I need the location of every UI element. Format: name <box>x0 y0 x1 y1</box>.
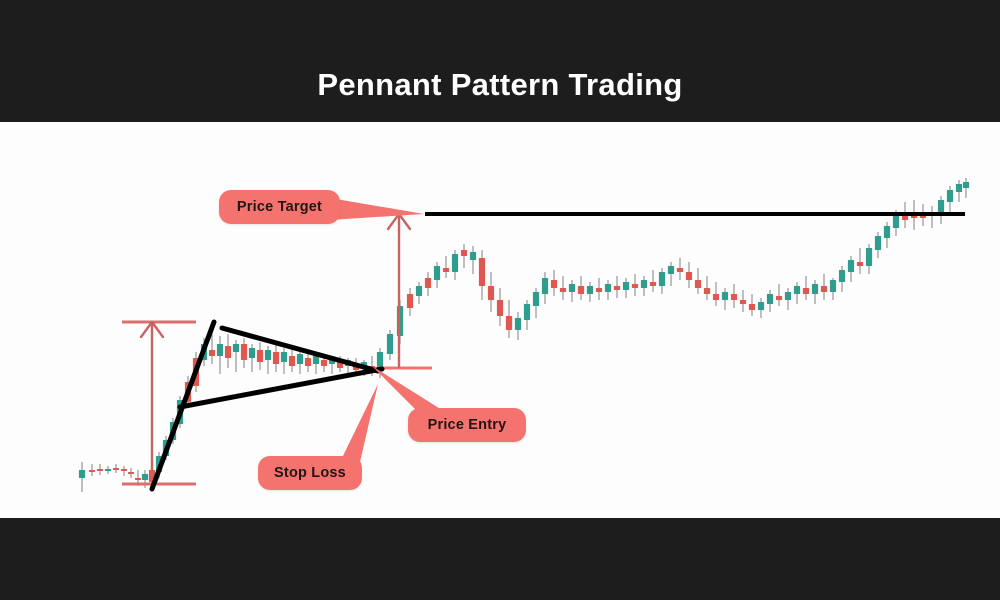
candle-body <box>866 248 872 266</box>
candle-body <box>434 266 440 280</box>
candle-body <box>121 469 127 471</box>
candle-body <box>857 262 863 266</box>
candle-body <box>902 216 908 220</box>
candle-body <box>142 474 148 480</box>
candle-body <box>884 226 890 238</box>
stop-loss-tail <box>340 384 378 462</box>
candle-body <box>686 272 692 280</box>
candle-body <box>89 470 95 472</box>
candle-body <box>848 260 854 272</box>
candle-body <box>963 182 969 188</box>
candle-body <box>560 288 566 292</box>
price-target-label[interactable]: Price Target <box>219 190 340 224</box>
page-title: Pennant Pattern Trading <box>0 68 1000 102</box>
stop-loss-label-text: Stop Loss <box>274 465 346 481</box>
candles-layer <box>79 178 969 492</box>
candle-body <box>113 468 119 470</box>
candle-body <box>241 344 247 360</box>
candle-body <box>839 270 845 282</box>
price-target-label-text: Price Target <box>237 199 322 215</box>
candle-body <box>297 354 303 364</box>
candle-body <box>506 316 512 330</box>
candle-body <box>407 294 413 308</box>
candle-body <box>875 236 881 250</box>
footer-band <box>0 518 1000 600</box>
candle-body <box>632 284 638 288</box>
candle-body <box>470 252 476 260</box>
header-band: Pennant Pattern Trading <box>0 0 1000 122</box>
candle-body <box>776 296 782 300</box>
candle-body <box>416 286 422 296</box>
candle-body <box>821 286 827 292</box>
candle-body <box>605 284 611 292</box>
candle-body <box>596 288 602 292</box>
chart-canvas <box>0 122 1000 518</box>
candle-body <box>497 300 503 316</box>
candle-body <box>533 292 539 306</box>
candle-body <box>313 356 319 364</box>
candle-body <box>803 288 809 294</box>
candle-body <box>217 344 223 356</box>
price-entry-tail <box>372 366 442 414</box>
candle-body <box>387 334 393 354</box>
candle-body <box>749 304 755 310</box>
candle-body <box>488 286 494 300</box>
candle-body <box>650 282 656 286</box>
candle-body <box>731 294 737 300</box>
candle-body <box>767 294 773 304</box>
candle-body <box>947 190 953 202</box>
candle-body <box>452 254 458 272</box>
stop-loss-label[interactable]: Stop Loss <box>258 456 362 490</box>
candle-body <box>97 469 103 471</box>
candle-body <box>524 304 530 320</box>
candle-body <box>135 478 141 480</box>
candle-body <box>249 348 255 358</box>
annotation-lines-layer <box>122 214 965 489</box>
candle-body <box>321 360 327 366</box>
candle-body <box>551 280 557 288</box>
candle-body <box>614 286 620 290</box>
candle-body <box>893 214 899 228</box>
candle-body <box>79 470 85 478</box>
candle-body <box>515 318 521 330</box>
candle-body <box>273 352 279 364</box>
candle-body <box>704 288 710 294</box>
candle-body <box>794 286 800 294</box>
candle-body <box>668 266 674 274</box>
candle-body <box>659 272 665 286</box>
candle-body <box>569 284 575 292</box>
candle-body <box>578 286 584 294</box>
candle-body <box>722 292 728 300</box>
candle-body <box>677 268 683 272</box>
candle-body <box>830 280 836 292</box>
pennant-lower-trendline <box>180 369 382 407</box>
candle-body <box>128 472 134 474</box>
candle-body <box>938 200 944 212</box>
candle-body <box>479 258 485 286</box>
candle-body <box>443 268 449 272</box>
candle-body <box>713 294 719 300</box>
candle-body <box>257 350 263 362</box>
candlestick-chart <box>0 122 1000 518</box>
candle-body <box>695 280 701 288</box>
price-target-tail <box>330 198 424 220</box>
infographic-root: Pennant Pattern Trading Price Target Pri… <box>0 0 1000 600</box>
candle-body <box>758 302 764 310</box>
candle-body <box>225 346 231 358</box>
candle-body <box>641 280 647 288</box>
candle-body <box>425 278 431 288</box>
candle-body <box>281 352 287 362</box>
candle-body <box>289 356 295 366</box>
price-entry-label[interactable]: Price Entry <box>408 408 526 442</box>
candle-body <box>105 469 111 471</box>
candle-body <box>233 344 239 352</box>
candle-body <box>956 184 962 192</box>
candle-body <box>740 300 746 304</box>
candle-body <box>305 358 311 366</box>
candle-body <box>461 250 467 256</box>
candle-body <box>587 286 593 294</box>
candle-body <box>623 282 629 290</box>
candle-body <box>785 292 791 300</box>
price-entry-label-text: Price Entry <box>428 417 507 433</box>
candle-body <box>209 350 215 356</box>
candle-body <box>812 284 818 294</box>
candle-body <box>542 278 548 294</box>
candle-body <box>265 350 271 360</box>
